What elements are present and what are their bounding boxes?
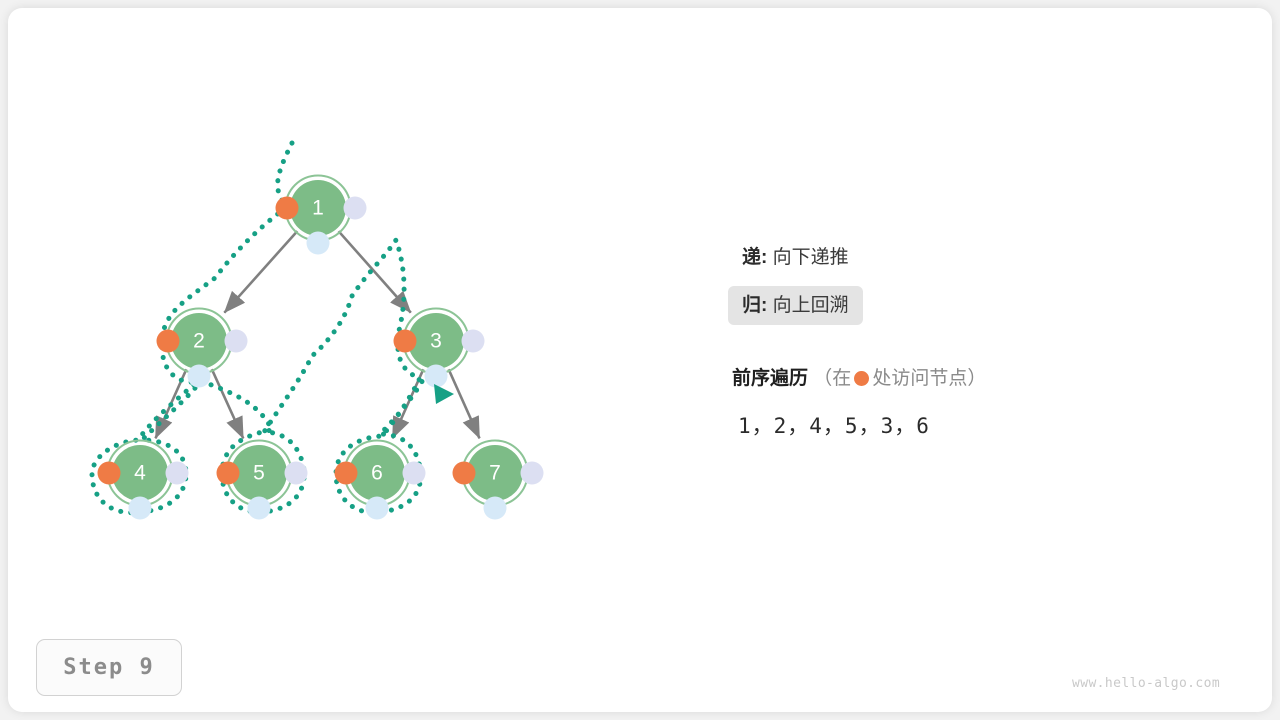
tree-node-5[interactable]: 5 [217,441,308,520]
node-return-slot-dot [484,497,507,520]
node-right-child-slot-dot [462,330,485,353]
traversal-heading: 前序遍历 （在处访问节点） [732,363,986,390]
node-label: 6 [371,462,383,485]
node-visit-dot-icon [453,462,476,485]
node-right-child-slot-dot [521,462,544,485]
node-label: 3 [430,330,442,353]
node-visit-dot-icon [335,462,358,485]
node-right-child-slot-dot [403,462,426,485]
node-visit-dot-icon [157,330,180,353]
tree-edge [339,231,411,312]
node-label: 7 [489,462,501,485]
screenshot-stage: 1234567 递: 向下递推 归: 向上回溯 前序遍历 （在处访问节点） 1，… [0,0,1280,720]
legend-recurse-row: 递: 向下递推 [728,238,863,277]
tree-node-6[interactable]: 6 [335,441,426,520]
step-badge: Step 9 [36,639,182,696]
cursor-triangle-shape [434,384,454,404]
node-visit-dot-icon [98,462,121,485]
traversal-title-text: 前序遍历 [732,368,808,389]
node-return-slot-dot [366,497,389,520]
node-label: 5 [253,462,265,485]
tree-node-1[interactable]: 1 [276,176,367,255]
tree-node-3[interactable]: 3 [394,309,485,388]
traversal-sequence: 1，2，4，5，3，6 [738,410,930,440]
node-right-child-slot-dot [344,197,367,220]
traversal-note-suffix: 处访问节点） [872,368,986,389]
node-return-slot-dot [425,365,448,388]
node-label: 4 [134,462,146,485]
tree-edge [449,369,480,438]
cursor-triangle-icon [434,384,454,404]
node-visit-dot-icon [276,197,299,220]
node-visit-dot-icon [394,330,417,353]
legend-backtrack-value: 向上回溯 [773,295,849,316]
node-return-slot-dot [129,497,152,520]
node-return-slot-dot [248,497,271,520]
traversal-note-prefix: （在 [813,368,851,389]
node-return-slot-dot [307,232,330,255]
node-right-child-slot-dot [225,330,248,353]
legend-recurse-key: 递: [742,247,767,268]
legend-backtrack-row: 归: 向上回溯 [728,286,863,325]
node-right-child-slot-dot [166,462,189,485]
node-label: 2 [193,330,205,353]
node-label: 1 [312,197,324,220]
node-right-child-slot-dot [285,462,308,485]
tree-edge [212,369,243,438]
tree-edge [224,231,297,313]
legend-recurse-value: 向下递推 [773,247,849,268]
footer-url: www.hello-algo.com [1072,676,1220,691]
node-visit-dot-icon [217,462,240,485]
tree-node-7[interactable]: 7 [453,441,544,520]
legend-backtrack-key: 归: [742,295,767,316]
binary-tree-diagram: 1234567 [0,0,1280,720]
node-return-slot-dot [188,365,211,388]
visit-marker-dot-icon [854,371,869,386]
